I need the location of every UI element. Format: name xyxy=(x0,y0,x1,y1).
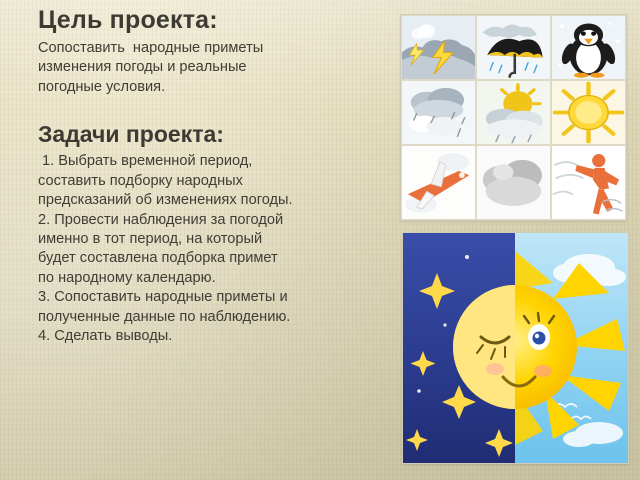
tasks-paragraph: 1. Выбрать временной период, составить п… xyxy=(38,152,388,346)
task-line-4: 2. Провести наблюдения за погодой xyxy=(38,211,388,230)
grey-cloud-icon xyxy=(477,146,550,219)
cell-plane-clouds xyxy=(401,145,476,220)
task-line-3: предсказаний об изменениях погоды. xyxy=(38,191,388,210)
goal-line-1: Сопоставить народные приметы xyxy=(38,39,388,58)
task-line-1: 1. Выбрать временной период, xyxy=(38,152,388,171)
cell-grey-cloud xyxy=(476,145,551,220)
cell-bright-sun xyxy=(551,80,626,145)
slide-text-column: Цель проекта: Сопоставить народные приме… xyxy=(38,6,388,346)
page-title: Цель проекта: xyxy=(38,6,388,35)
airplane-icon xyxy=(402,146,475,219)
cell-lightning-storm xyxy=(401,15,476,80)
goal-paragraph: Сопоставить народные приметы изменения п… xyxy=(38,39,388,97)
section-title-tasks: Задачи проекта: xyxy=(38,121,388,147)
cell-penguin-snow xyxy=(551,15,626,80)
sun-moon-svg xyxy=(403,233,628,463)
umbrella-rain-icon xyxy=(477,16,550,79)
task-line-7: по народному календарю. xyxy=(38,269,388,288)
task-line-2: составить подборку народных xyxy=(38,172,388,191)
slide-canvas: Цель проекта: Сопоставить народные приме… xyxy=(0,0,640,480)
rain-cloud-icon xyxy=(402,81,475,144)
task-line-8: 3. Сопоставить народные приметы и xyxy=(38,288,388,307)
cell-rain-cloud xyxy=(401,80,476,145)
windy-person-icon xyxy=(552,146,625,219)
task-line-9: полученные данные по наблюдению. xyxy=(38,308,388,327)
task-line-10: 4. Сделать выводы. xyxy=(38,327,388,346)
task-line-5: именно в тот период, на который xyxy=(38,230,388,249)
sun-and-moon-illustration xyxy=(402,232,629,464)
cell-windy-person xyxy=(551,145,626,220)
weather-collage xyxy=(400,14,627,221)
sun-behind-cloud-icon xyxy=(477,81,550,144)
penguin-snow-icon xyxy=(552,16,625,79)
goal-line-3: погодные условия. xyxy=(38,78,388,97)
task-line-6: будет составлена подборка примет xyxy=(38,249,388,268)
goal-line-2: изменения погоды и реальные xyxy=(38,58,388,77)
cell-sun-behind-cloud xyxy=(476,80,551,145)
cell-umbrella-rain xyxy=(476,15,551,80)
lightning-storm-icon xyxy=(402,16,475,79)
bright-sun-icon xyxy=(552,81,625,144)
